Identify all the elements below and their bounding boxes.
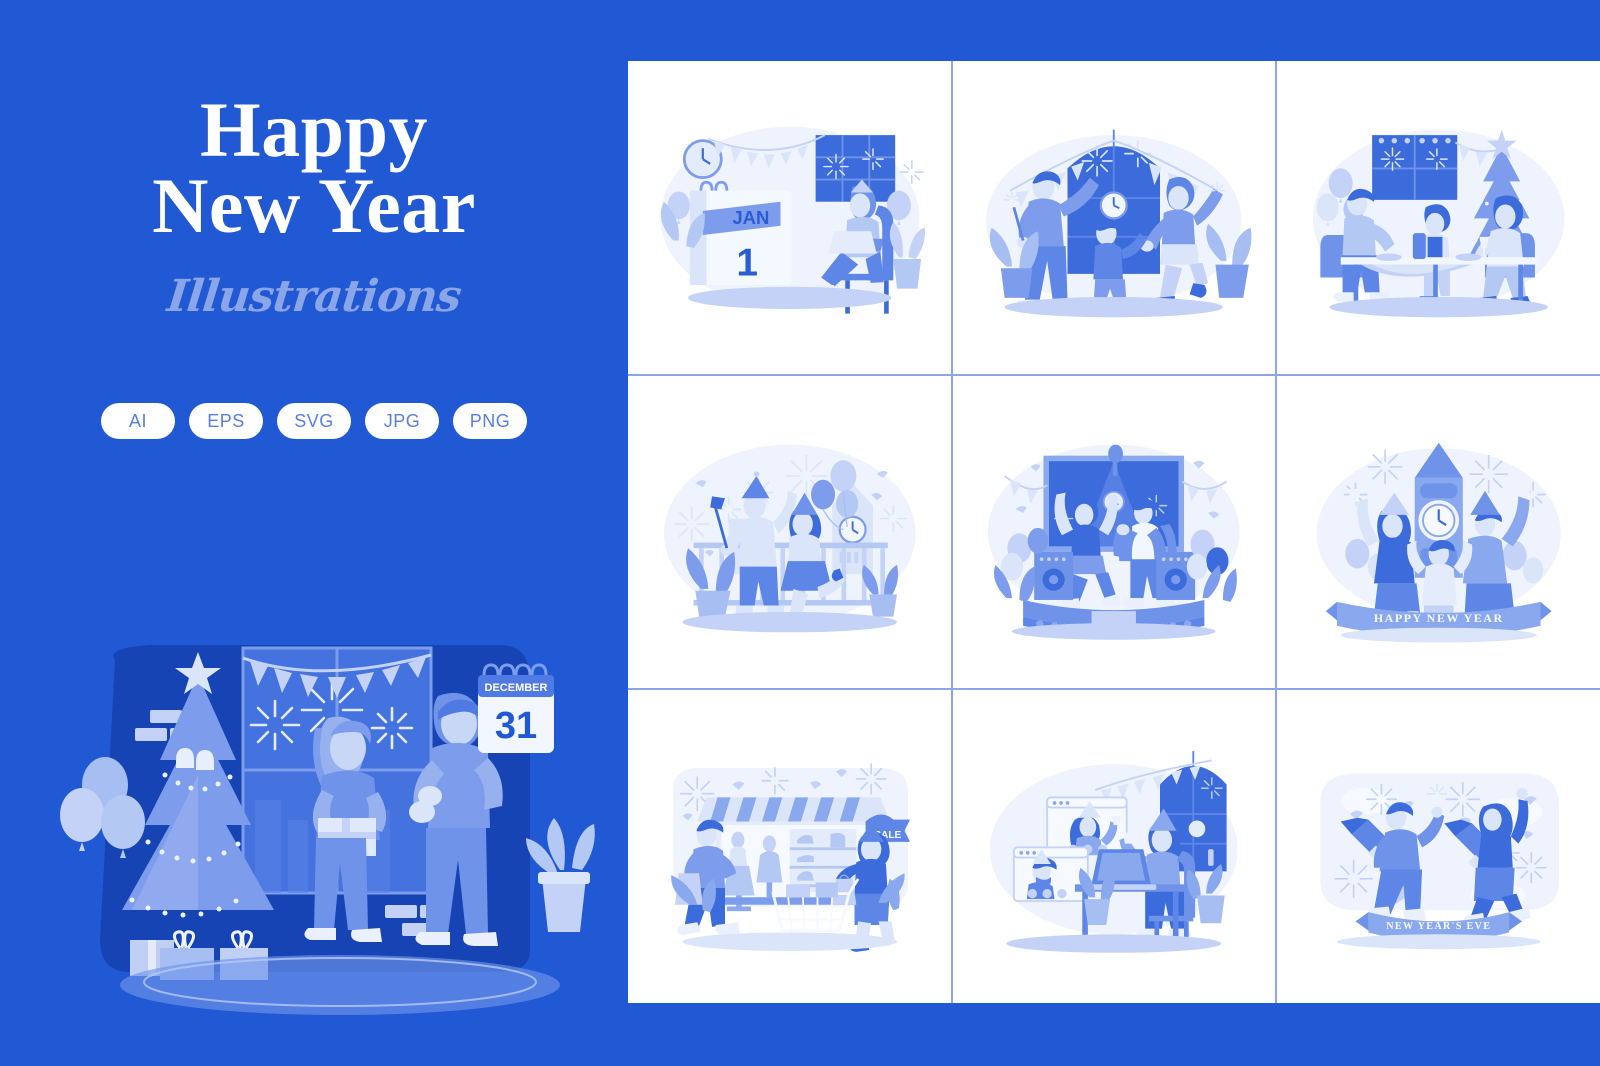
thumbnail-couple-dancing-stage[interactable] [953, 376, 1276, 689]
thumbnail-couple-riding-firework-rockets[interactable]: NEW YEAR'S EVE [1277, 690, 1600, 1003]
thumb9-banner-text: NEW YEAR'S EVE [1386, 921, 1491, 932]
thumbnail-new-year-calendar-laptop[interactable]: JAN 1 [628, 61, 951, 374]
thumb1-day: 1 [736, 242, 758, 285]
thumb1-month: JAN [732, 207, 769, 228]
thumbnail-virtual-new-year-party[interactable] [953, 690, 1276, 1003]
hero-illustration: DECEMBER 31 [60, 600, 600, 1020]
format-badge-jpg[interactable]: JPG [365, 403, 439, 439]
video-window-top [1047, 798, 1127, 855]
thumbnail-grid: JAN 1 [628, 61, 1600, 1003]
calendar-day: 31 [495, 705, 537, 747]
subtitle-script: Illustrations [0, 271, 631, 322]
video-window-bottom [1014, 848, 1088, 902]
thumbnail-family-dinner-toast[interactable] [1277, 61, 1600, 374]
thumbnail-new-year-shopping-sale[interactable]: SALE [628, 690, 951, 1003]
format-badge-png[interactable]: PNG [453, 403, 527, 439]
thumb6-banner-text: HAPPY NEW YEAR [1374, 611, 1504, 625]
left-hero-panel: Happy New Year Illustrations AI EPS SVG … [0, 0, 628, 1066]
format-badge-ai[interactable]: AI [101, 403, 175, 439]
potted-plant [526, 818, 595, 932]
format-badge-list: AI EPS SVG JPG PNG [0, 403, 628, 439]
format-badge-svg[interactable]: SVG [277, 403, 351, 439]
title-block: Happy New Year Illustrations [0, 92, 628, 322]
wall-calendar: DECEMBER 31 [478, 665, 554, 753]
thumbnail-family-sparklers-window[interactable] [953, 61, 1276, 374]
thumbnail-family-clock-tower-countdown[interactable]: HAPPY NEW YEAR [1277, 376, 1600, 689]
format-badge-eps[interactable]: EPS [189, 403, 263, 439]
calendar-month: DECEMBER [485, 682, 548, 694]
page-title: Happy New Year [0, 92, 628, 245]
thumbnail-couple-balcony-fireworks[interactable] [628, 376, 951, 689]
